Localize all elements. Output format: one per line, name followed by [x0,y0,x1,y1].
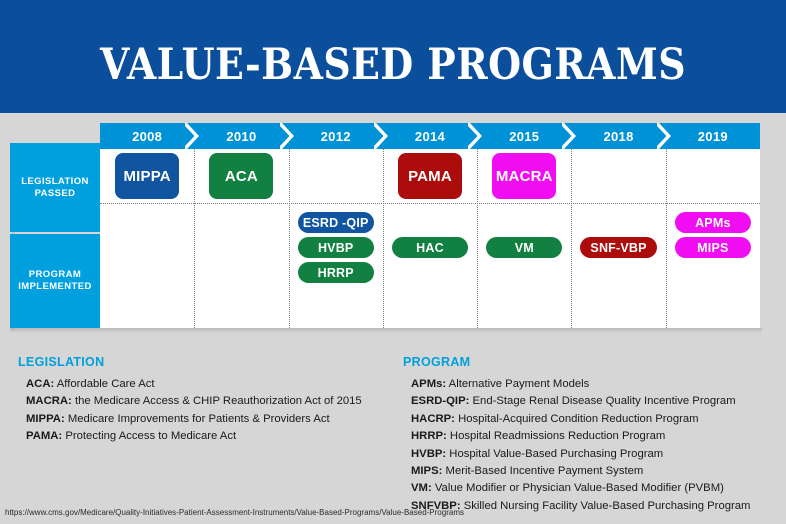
year-header-2015: 2015 [477,123,571,149]
row-label-legislation-passed: LEGISLATION PASSED [10,143,100,232]
legend-item: HVBP: Hospital Value-Based Purchasing Pr… [403,446,778,463]
badge-label: SNF-VBP [590,241,646,255]
legend-item-abbr: HVBP: [411,448,446,460]
timeline-chart: LEGISLATION PASSED PROGRAM IMPLEMENTED 2… [0,113,786,353]
badge-pama: PAMA [398,153,462,199]
badge-label: HAC [416,241,444,255]
year-label: 2012 [321,129,351,144]
year-header-2019: 2019 [666,123,760,149]
legend-program: PROGRAM APMs: Alternative Payment Models… [403,355,778,515]
legend-item-text: Affordable Care Act [54,378,154,390]
legend-item: PAMA: Protecting Access to Medicare Act [18,428,398,445]
title-banner: VALUE-BASED PROGRAMS [0,0,786,113]
year-header-2008: 2008 [100,123,194,149]
legend-item-text: Merit-Based Incentive Payment System [442,465,643,477]
year-label: 2018 [603,129,633,144]
badge-label: HRRP [318,266,354,280]
legend-item-text: Value Modifier or Physician Value-Based … [432,482,724,494]
row-label-column: LEGISLATION PASSED PROGRAM IMPLEMENTED [10,143,100,328]
legend-item-abbr: PAMA: [26,430,62,442]
legend-item-abbr: APMs: [411,378,446,390]
legend-item-text: Hospital Value-Based Purchasing Program [446,448,663,460]
badge-hrrp: HRRP [298,262,374,283]
badge-snf-vbp: SNF-VBP [580,237,656,258]
legend-item: MACRA: the Medicare Access & CHIP Reauth… [18,393,398,410]
legend-item: HACRP: Hospital-Acquired Condition Reduc… [403,411,778,428]
badge-label: HVBP [318,241,354,255]
badge-mips: MIPS [675,237,751,258]
row-label-program-implemented-text: PROGRAM IMPLEMENTED [13,269,97,293]
badge-label: ESRD -QIP [303,216,369,230]
badge-label: APMs [695,216,731,230]
legend-item: MIPS: Merit-Based Incentive Payment Syst… [403,463,778,480]
badge-hvbp: HVBP [298,237,374,258]
badge-mippa: MIPPA [115,153,179,199]
legend-item-text: Medicare Improvements for Patients & Pro… [65,413,330,425]
badge-apms: APMs [675,212,751,233]
row-label-legislation-passed-text: LEGISLATION PASSED [13,176,97,200]
legend-program-list: APMs: Alternative Payment ModelsESRD-QIP… [403,376,778,515]
page-title: VALUE-BASED PROGRAMS [47,40,739,90]
row-label-program-implemented: PROGRAM IMPLEMENTED [10,234,100,328]
legend-program-title: PROGRAM [403,355,778,369]
badge-label: MIPS [697,241,728,255]
legend-legislation: LEGISLATION ACA: Affordable Care ActMACR… [18,355,398,446]
legend-item: HRRP: Hospital Readmissions Reduction Pr… [403,428,778,445]
legend-item: ACA: Affordable Care Act [18,376,398,393]
badge-esrd-qip: ESRD -QIP [298,212,374,233]
year-label: 2014 [415,129,445,144]
legend-item-text: Alternative Payment Models [446,378,589,390]
badge-label: ACA [225,168,258,185]
legend-item: MIPPA: Medicare Improvements for Patient… [18,411,398,428]
year-label: 2008 [132,129,162,144]
legend-legislation-list: ACA: Affordable Care ActMACRA: the Medic… [18,376,398,446]
year-label: 2015 [509,129,539,144]
grid-shadow [10,328,762,333]
infographic-page: VALUE-BASED PROGRAMS LEGISLATION PASSED … [0,0,786,524]
legend-item: ESRD-QIP: End-Stage Renal Disease Qualit… [403,393,778,410]
badge-label: MACRA [496,168,553,185]
source-url: https://www.cms.gov/Medicare/Quality-Ini… [5,508,464,517]
year-header-2018: 2018 [571,123,665,149]
year-header-2010: 2010 [194,123,288,149]
legend-item-text: Hospital Readmissions Reduction Program [447,430,666,442]
year-label: 2019 [698,129,728,144]
legend-item-abbr: ACA: [26,378,54,390]
year-header-2012: 2012 [289,123,383,149]
legend-item: APMs: Alternative Payment Models [403,376,778,393]
year-label: 2010 [226,129,256,144]
legend-item-abbr: MIPS: [411,465,442,477]
badge-label: PAMA [408,168,452,185]
badge-label: MIPPA [123,168,170,185]
badge-macra: MACRA [492,153,556,199]
year-header-2014: 2014 [383,123,477,149]
legend-item-abbr: VM: [411,482,432,494]
legend-item-abbr: MACRA: [26,395,72,407]
legend-item-text: Skilled Nursing Facility Value-Based Pur… [461,500,751,512]
badge-hac: HAC [392,237,468,258]
legend-item-abbr: ESRD-QIP: [411,395,469,407]
badge-aca: ACA [209,153,273,199]
legend-item-abbr: HACRP: [411,413,455,425]
legend-item-abbr: MIPPA: [26,413,65,425]
legend-item-text: End-Stage Renal Disease Quality Incentiv… [469,395,735,407]
badge-vm: VM [486,237,562,258]
legend-legislation-title: LEGISLATION [18,355,398,369]
legend-item-text: Protecting Access to Medicare Act [62,430,236,442]
legend-item-text: Hospital-Acquired Condition Reduction Pr… [455,413,699,425]
legend-item-text: the Medicare Access & CHIP Reauthorizati… [72,395,362,407]
badge-layer: MIPPAACAPAMAMACRAESRD -QIPHVBPHRRPHACVMS… [100,149,760,328]
year-header-strip: 2008201020122014201520182019 [100,123,760,149]
badge-label: VM [515,241,534,255]
legend-item-abbr: HRRP: [411,430,447,442]
legend-item: VM: Value Modifier or Physician Value-Ba… [403,480,778,497]
